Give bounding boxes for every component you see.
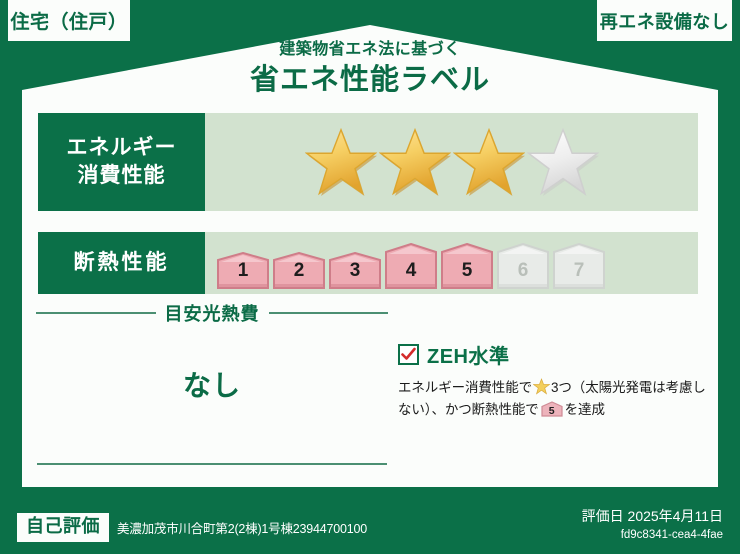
insulation-performance-value-panel: 1234567	[205, 232, 698, 294]
energy-performance-label-box: エネルギー 消費性能	[38, 113, 205, 211]
star-filled-icon	[305, 127, 377, 197]
insulation-grade-badge: 6	[497, 243, 549, 289]
insulation-grade-badge: 5	[441, 243, 493, 289]
divider-left	[36, 312, 156, 314]
divider-right	[269, 312, 389, 314]
insulation-grade-badge-label: 5	[441, 260, 493, 282]
utility-cost-heading: 目安光熱費	[36, 300, 388, 326]
evaluation-date-value: 2025年4月11日	[628, 508, 723, 524]
insulation-grade-scale: 1234567	[217, 237, 605, 289]
utility-cost-title: 目安光熱費	[165, 300, 260, 326]
utility-cost-section: 目安光熱費 なし	[36, 300, 388, 404]
zeh-desc-part3: を達成	[565, 402, 605, 417]
footer-right-group: 評価日 2025年4月11日 fd9c8341-cea4-4fae	[582, 506, 723, 541]
zeh-standard-heading: ZEH水準	[398, 340, 708, 369]
insulation-grade-badge: 1	[217, 252, 269, 289]
evaluation-date: 評価日 2025年4月11日	[582, 506, 723, 526]
zeh-standard-title: ZEH水準	[427, 340, 510, 369]
zeh-checkbox	[398, 344, 419, 365]
building-type-tag-label: 住宅（住戸）	[10, 7, 127, 34]
insulation-grade-inline-badge-label: 5	[541, 406, 563, 417]
insulation-grade-badge: 2	[273, 252, 325, 289]
property-address: 美濃加茂市川合町第2(2棟)1号棟23944700100	[117, 518, 367, 537]
zeh-standard-section: ZEH水準 エネルギー消費性能で 3つ（太陽光発電は考慮しない）、かつ断熱性能で…	[398, 340, 708, 421]
insulation-grade-badge: 3	[329, 252, 381, 289]
insulation-grade-badge-label: 4	[385, 260, 437, 282]
energy-performance-name-line1: エネルギー	[67, 134, 177, 162]
star-empty-icon	[527, 127, 599, 197]
insulation-grade-badge: 7	[553, 243, 605, 289]
star-filled-icon	[453, 127, 525, 197]
evaluation-id: fd9c8341-cea4-4fae	[582, 529, 723, 541]
renewable-energy-tag-label: 再エネ設備なし	[600, 8, 730, 34]
insulation-grade-badge-label: 1	[217, 260, 269, 282]
star-filled-icon	[533, 378, 550, 395]
zeh-standard-description: エネルギー消費性能で 3つ（太陽光発電は考慮しない）、かつ断熱性能で 5 を達成	[398, 377, 708, 421]
insulation-grade-badge-label: 2	[273, 260, 325, 282]
star-rating	[305, 127, 599, 197]
checkmark-icon	[401, 347, 416, 362]
energy-performance-name-line2: 消費性能	[78, 162, 166, 190]
zeh-desc-part1: エネルギー消費性能で	[398, 380, 532, 395]
label-title: 省エネ性能ラベル	[0, 64, 740, 97]
renewable-energy-tag: 再エネ設備なし	[597, 0, 732, 41]
energy-performance-row: エネルギー 消費性能	[38, 113, 698, 211]
insulation-grade-inline-badge: 5	[541, 401, 563, 417]
insulation-grade-badge-label: 6	[497, 260, 549, 282]
insulation-performance-name: 断熱性能	[74, 249, 170, 277]
insulation-performance-row: 断熱性能 1234567	[38, 232, 698, 294]
label-title-block: 建築物省エネ法に基づく 省エネ性能ラベル	[0, 40, 740, 98]
evaluation-date-label: 評価日	[582, 508, 624, 524]
energy-performance-value-panel	[205, 113, 698, 211]
label-subtitle: 建築物省エネ法に基づく	[0, 40, 740, 59]
insulation-grade-badge-label: 7	[553, 260, 605, 282]
divider-bottom	[37, 463, 387, 465]
footer-left-group: 自己評価 美濃加茂市川合町第2(2棟)1号棟23944700100	[17, 513, 367, 542]
self-evaluation-badge: 自己評価	[17, 513, 109, 542]
star-filled-icon	[379, 127, 451, 197]
building-type-tag: 住宅（住戸）	[8, 0, 130, 41]
insulation-grade-badge-label: 3	[329, 260, 381, 282]
utility-cost-value: なし	[36, 364, 388, 404]
insulation-performance-label-box: 断熱性能	[38, 232, 205, 294]
energy-performance-label: 住宅（住戸） 再エネ設備なし 建築物省エネ法に基づく 省エネ性能ラベル エネルギ…	[0, 0, 740, 554]
insulation-grade-badge: 4	[385, 243, 437, 289]
